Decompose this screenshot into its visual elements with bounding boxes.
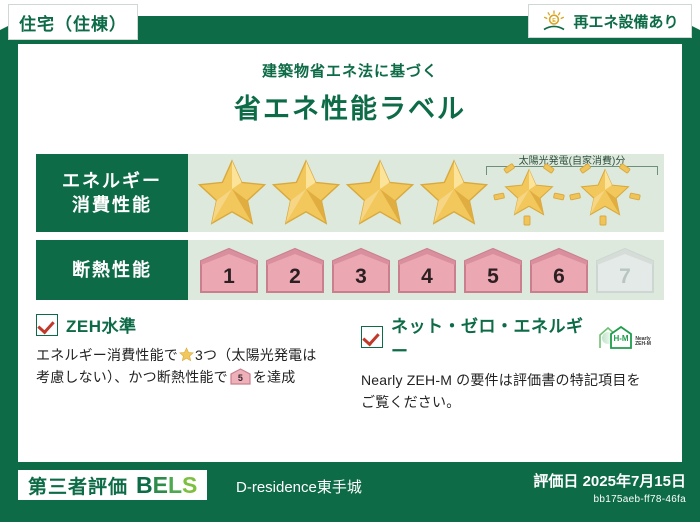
- evaluation-date: 評価日 2025年7月15日: [533, 470, 686, 491]
- star-filled: [418, 158, 490, 228]
- svg-text:7: 7: [619, 265, 631, 288]
- zeh-description: エネルギー消費性能で3つ（太陽光発電は考慮しない）、かつ断熱性能で5を達成: [36, 345, 329, 388]
- bels-letter: L: [168, 472, 182, 498]
- bels-logo: BELS: [136, 472, 197, 499]
- bels-badge: 第三者評価 BELS: [18, 470, 207, 500]
- star-solar-dashed: [492, 158, 566, 228]
- insulation-level-achieved: 3: [330, 246, 392, 294]
- renewable-badge: E 再エネ設備あり: [528, 4, 692, 38]
- insulation-level-scale: 1234567: [188, 246, 656, 294]
- svg-text:E: E: [553, 18, 557, 24]
- info-sections: ZEH水準 エネルギー消費性能で3つ（太陽光発電は考慮しない）、かつ断熱性能で5…: [36, 312, 664, 413]
- energy-performance-row: エネルギー 消費性能 太陽光発電(自家消費)分: [36, 154, 664, 232]
- bels-letter: S: [182, 472, 197, 498]
- insulation-level-achieved: 4: [396, 246, 458, 294]
- inline-house-icon: 5: [230, 368, 251, 385]
- insulation-row-label: 断熱性能: [36, 240, 188, 300]
- building-name: D-residence東手城: [236, 476, 362, 497]
- net-zero-energy-section: ネット・ゼロ・エネルギー H-M: [339, 312, 664, 413]
- insulation-row-body: 1234567: [188, 240, 664, 300]
- insulation-level-achieved: 1: [198, 246, 260, 294]
- evaluation-info: 評価日 2025年7月15日 bb175aeb-ff78-46fa: [533, 470, 686, 505]
- nze-title: ネット・ゼロ・エネルギー: [391, 312, 584, 362]
- inline-house-value: 5: [238, 373, 243, 383]
- building-type-chip: 住宅（住棟）: [8, 4, 138, 40]
- page-title: 省エネ性能ラベル: [18, 87, 682, 126]
- zeh-m-logo-sub2: ZEH-M: [635, 341, 651, 347]
- energy-row-label: エネルギー 消費性能: [36, 154, 188, 232]
- svg-text:4: 4: [421, 265, 433, 288]
- zeh-check-icon: [36, 314, 58, 336]
- zeh-title: ZEH水準: [66, 312, 137, 337]
- zeh-text-part3: を達成: [253, 369, 296, 385]
- svg-text:6: 6: [553, 265, 565, 288]
- insulation-level-achieved: 5: [462, 246, 524, 294]
- renewable-badge-label: 再エネ設備あり: [573, 11, 678, 32]
- star-rating: [188, 158, 642, 228]
- svg-text:2: 2: [289, 265, 301, 288]
- star-filled: [196, 158, 268, 228]
- star-filled: [270, 158, 342, 228]
- zeh-m-logo-icon: H-M Nearly ZEH-M: [598, 324, 654, 350]
- evaluation-id: bb175aeb-ff78-46fa: [533, 494, 686, 505]
- nze-check-icon: [361, 326, 383, 348]
- svg-text:1: 1: [223, 265, 235, 288]
- svg-text:5: 5: [487, 265, 499, 288]
- zeh-m-logo-text: H-M: [613, 334, 628, 343]
- energy-label-line1: エネルギー: [62, 169, 162, 193]
- star-solar-dashed: [568, 158, 642, 228]
- insulation-level-inactive: 7: [594, 246, 656, 294]
- zeh-standard-section: ZEH水準 エネルギー消費性能で3つ（太陽光発電は考慮しない）、かつ断熱性能で5…: [36, 312, 339, 413]
- star-filled: [344, 158, 416, 228]
- insulation-performance-row: 断熱性能 1234567: [36, 240, 664, 300]
- sun-solar-icon: E: [541, 10, 567, 32]
- building-type-label: 住宅（住棟）: [19, 10, 127, 35]
- bels-letter: B: [136, 472, 153, 498]
- insulation-label-text: 断熱性能: [72, 258, 152, 282]
- label-footer: 第三者評価 BELS D-residence東手城 評価日 2025年7月15日…: [0, 466, 700, 522]
- nze-description: Nearly ZEH-M の要件は評価書の特記項目をご覧ください。: [361, 370, 654, 413]
- title-subtitle: 建築物省エネ法に基づく: [18, 60, 682, 81]
- zeh-text-part1: エネルギー消費性能で: [36, 347, 178, 363]
- energy-row-body: 太陽光発電(自家消費)分: [188, 154, 664, 232]
- bels-letter: E: [153, 472, 168, 498]
- energy-label-line2: 消費性能: [62, 193, 162, 217]
- energy-performance-label: 住宅（住棟） E 再エネ設備あり 建築物省エネ法に基づく 省エネ性能ラベル: [0, 0, 700, 522]
- insulation-level-achieved: 2: [264, 246, 326, 294]
- inline-star-icon: [179, 347, 194, 362]
- label-card: 建築物省エネ法に基づく 省エネ性能ラベル エネルギー 消費性能 太陽光発電(自家…: [18, 44, 682, 462]
- third-party-label: 第三者評価: [28, 472, 128, 499]
- svg-text:3: 3: [355, 265, 367, 288]
- insulation-level-achieved: 6: [528, 246, 590, 294]
